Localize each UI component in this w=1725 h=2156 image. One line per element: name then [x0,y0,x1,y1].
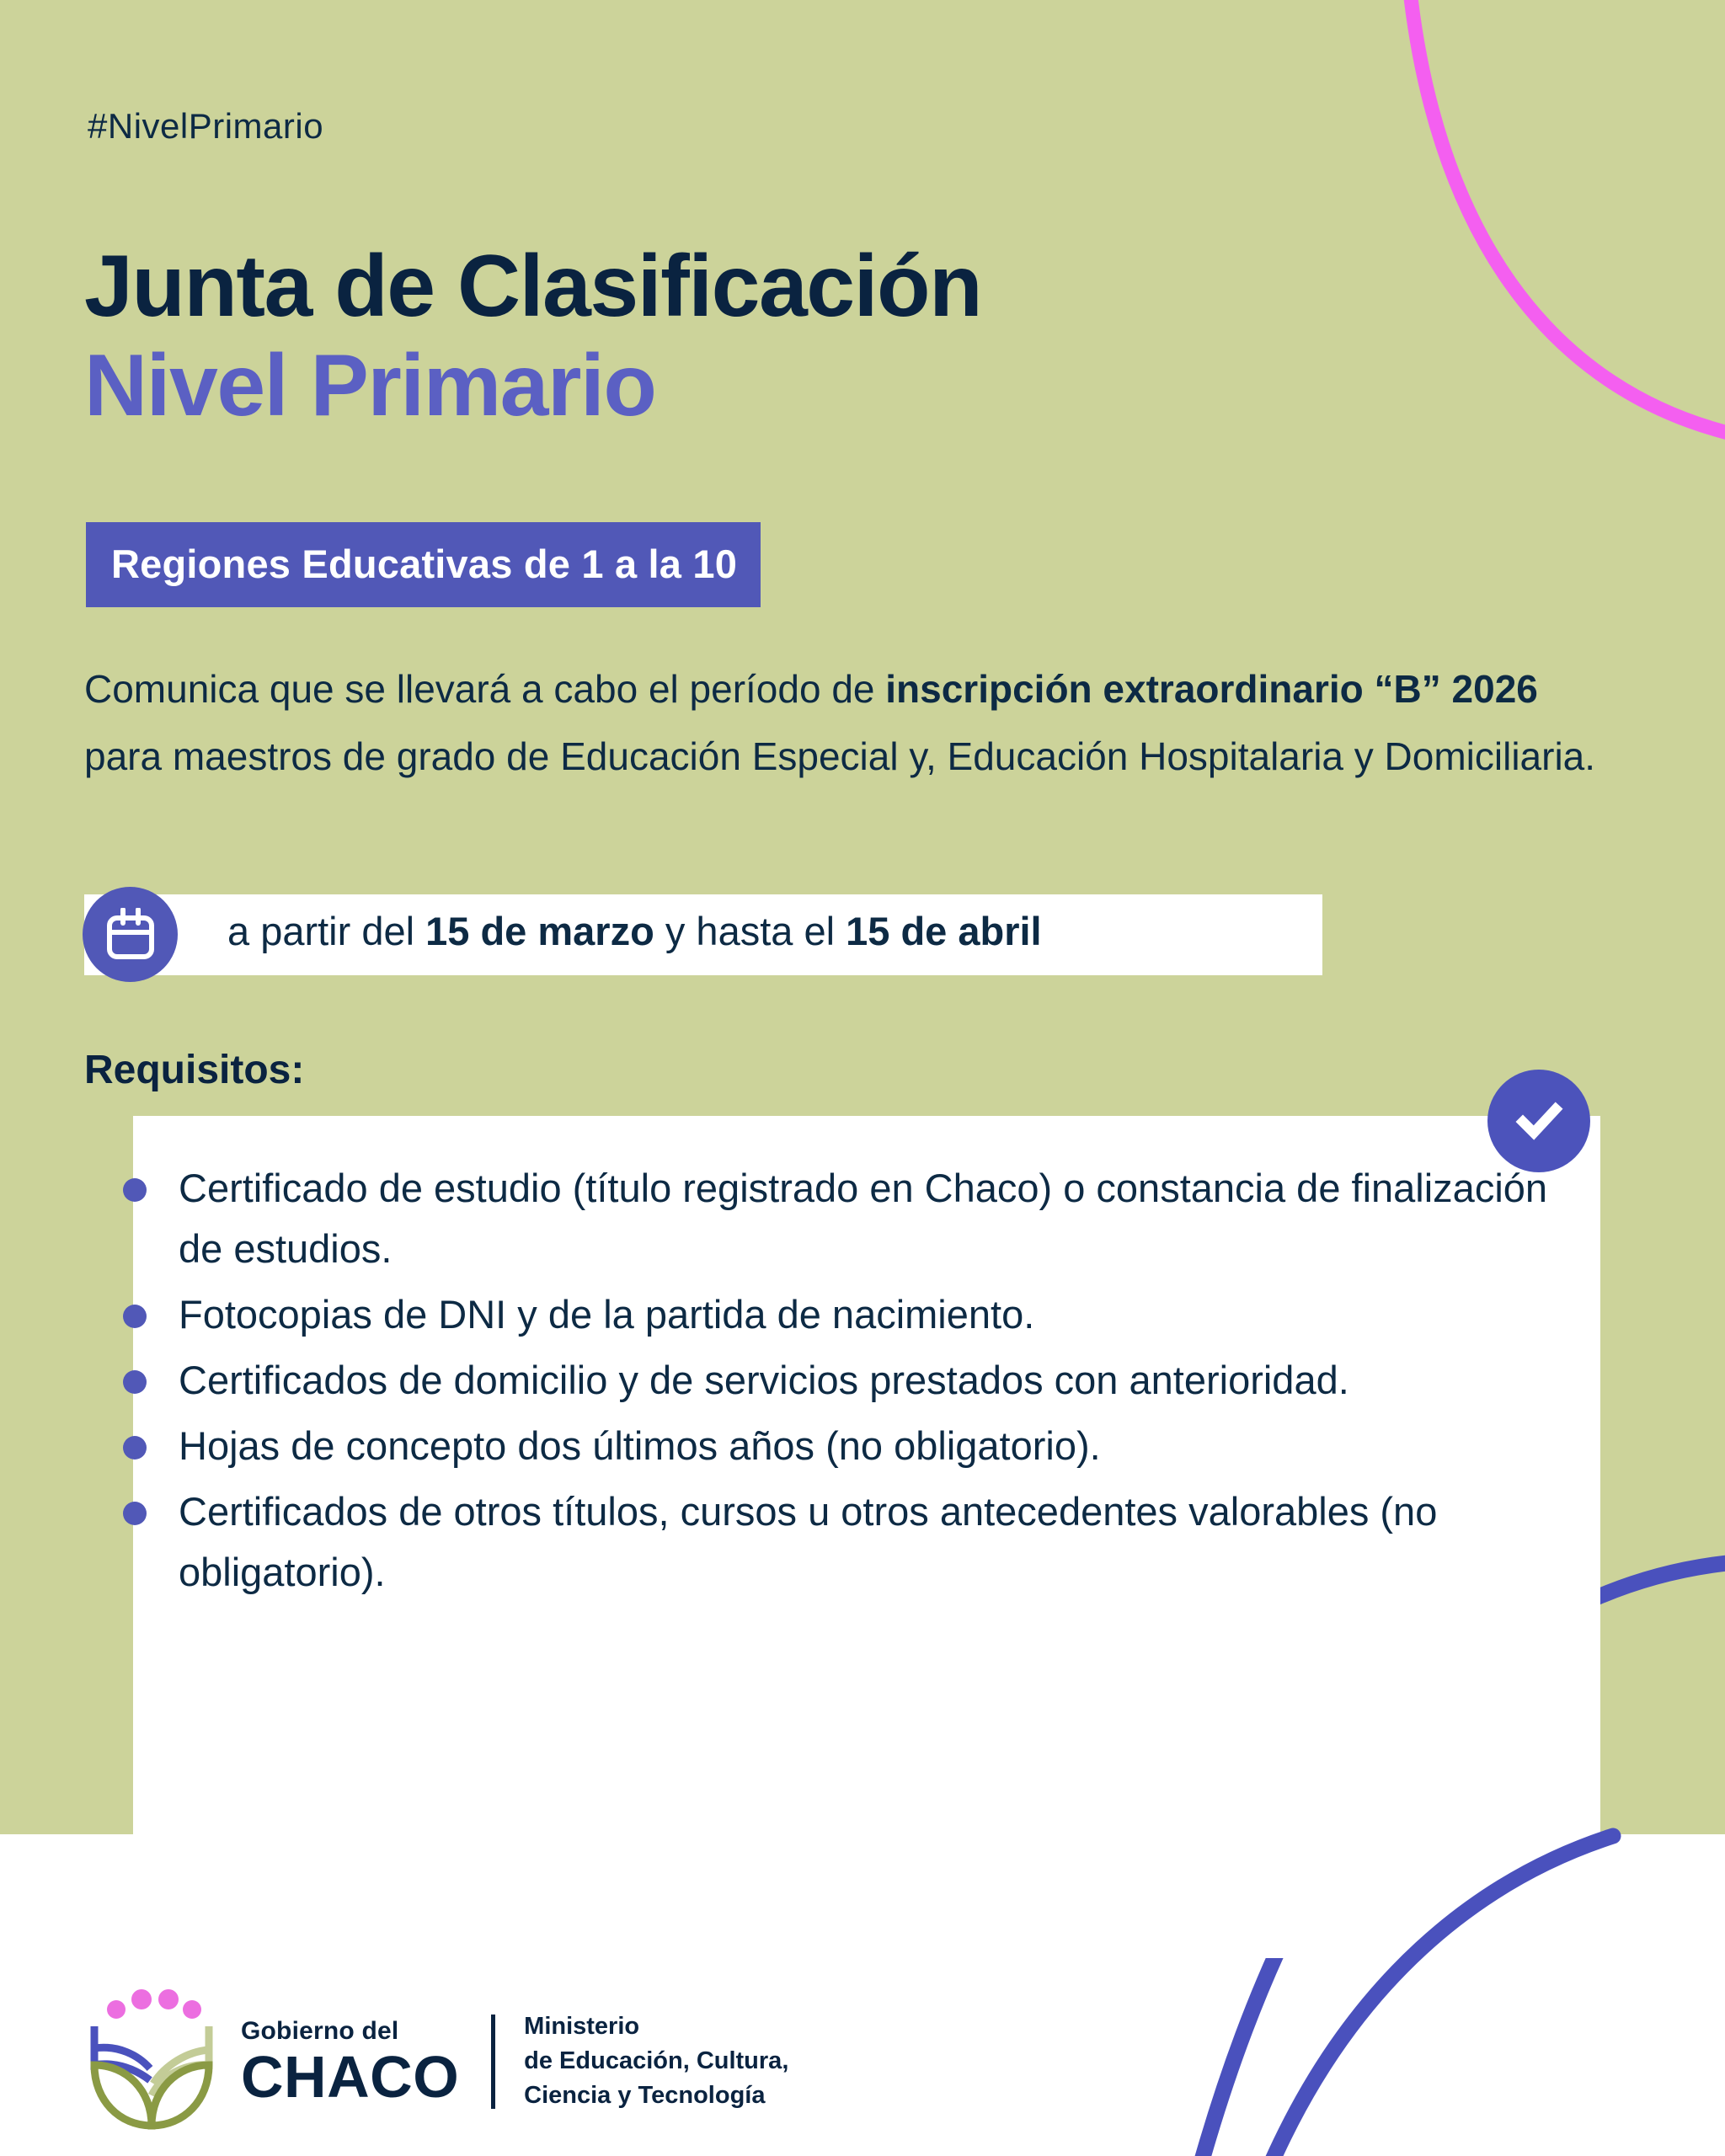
requirements-list: Certificado de estudio (título registrad… [118,1158,1583,1608]
bullet-dot-icon [123,1502,147,1525]
page-title: Junta de Clasificación Nivel Primario [84,243,1516,433]
poster-canvas: #NivelPrimario Junta de Clasificación Ni… [0,0,1725,2156]
requirements-heading: Requisitos: [84,1047,304,1093]
bullet-dot-icon [123,1178,147,1202]
ministry-name: Ministerio de Educación, Cultura, Cienci… [524,2009,788,2113]
gov-name-label: CHACO [241,2047,459,2106]
vertical-divider [491,2015,495,2109]
list-item: Certificados de domicilio y de servicios… [118,1350,1583,1411]
gov-prefix-label: Gobierno del [241,2017,459,2046]
date-prefix: a partir del [227,909,425,953]
list-item-label: Certificados de otros títulos, cursos u … [179,1489,1437,1594]
ministry-line-3: Ciencia y Tecnología [524,2079,788,2113]
list-item-label: Certificados de domicilio y de servicios… [179,1358,1349,1402]
list-item: Certificados de otros títulos, cursos u … [118,1481,1583,1603]
regions-badge: Regiones Educativas de 1 a la 10 [86,522,761,607]
check-circle-icon [1487,1070,1590,1172]
paragraph-part-two: para maestros de grado de Educación Espe… [84,734,1595,778]
list-item: Fotocopias de DNI y de la partida de nac… [118,1284,1583,1345]
ministry-line-2: de Educación, Cultura, [524,2044,788,2079]
announcement-paragraph: Comunica que se llevará a cabo el períod… [84,655,1626,790]
date-middle: y hasta el [654,909,846,953]
list-item-label: Certificado de estudio (título registrad… [179,1166,1547,1271]
paragraph-part-one: Comunica que se llevará a cabo el períod… [84,667,885,711]
list-item-label: Hojas de concepto dos últimos años (no o… [179,1423,1101,1468]
footer-wordmark: Gobierno del CHACO Ministerio de Educaci… [241,2009,788,2113]
hashtag-label: #NivelPrimario [88,106,323,147]
footer-branding: Gobierno del CHACO Ministerio de Educaci… [84,1988,788,2135]
calendar-icon [83,887,178,982]
bullet-dot-icon [123,1370,147,1394]
list-item: Certificado de estudio (título registrad… [118,1158,1583,1279]
date-start: 15 de marzo [425,909,654,953]
bullet-dot-icon [123,1305,147,1328]
list-item: Hojas de concepto dos últimos años (no o… [118,1416,1583,1476]
bullet-dot-icon [123,1436,147,1460]
chaco-leaf-logo-icon [84,1988,219,2135]
date-range-text: a partir del 15 de marzo y hasta el 15 d… [227,905,1042,958]
title-line-primary: Junta de Clasificación [84,243,1516,330]
paragraph-bold-highlight: inscripción extraordinario “B” 2026 [885,667,1538,711]
government-name: Gobierno del CHACO [241,2017,459,2106]
list-item-label: Fotocopias de DNI y de la partida de nac… [179,1292,1034,1337]
date-end: 15 de abril [846,909,1042,953]
ministry-line-1: Ministerio [524,2009,788,2044]
title-line-secondary: Nivel Primario [84,330,1516,433]
